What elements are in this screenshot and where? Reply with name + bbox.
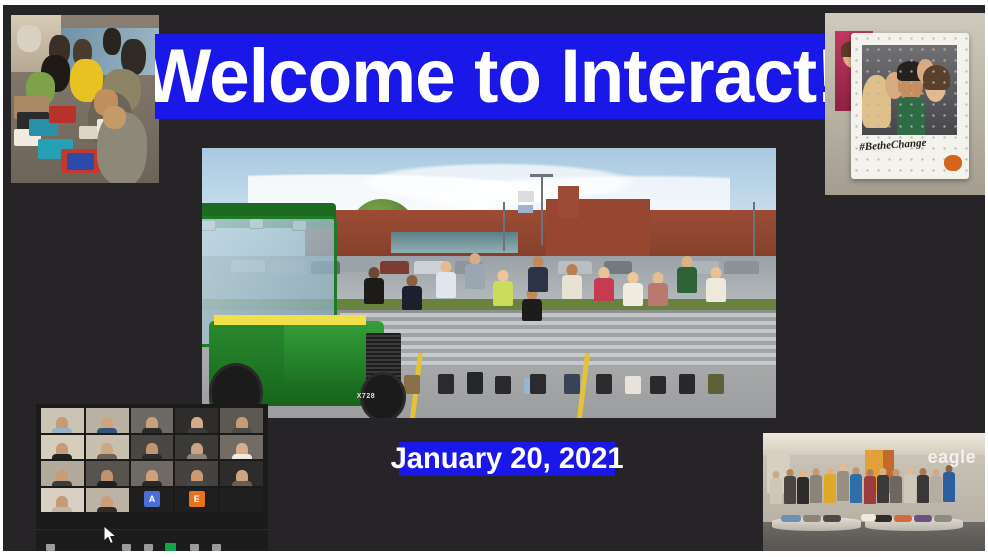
photo-be-the-change-polaroid: #BetheChange xyxy=(825,13,985,195)
page-title: Welcome to Interact! xyxy=(155,38,827,116)
zoom-participant-tile[interactable] xyxy=(220,435,263,460)
presentation-stage: Welcome to Interact! xyxy=(3,5,985,551)
polaroid-frame-prop: #BetheChange xyxy=(851,33,969,179)
participant-video-body xyxy=(187,481,207,486)
participants-icon xyxy=(122,544,131,551)
participant-avatar-initial: E xyxy=(189,491,205,507)
participant-video-body xyxy=(187,454,207,459)
participant-video-body xyxy=(232,481,252,486)
zoom-participant-tile[interactable] xyxy=(86,435,129,460)
zoom-tool-reactions[interactable] xyxy=(208,544,224,551)
zoom-participant-tile[interactable] xyxy=(41,488,84,513)
zoom-participant-tile[interactable] xyxy=(175,408,218,433)
zoom-participant-tile[interactable] xyxy=(220,488,263,513)
screenshot-root: Welcome to Interact! xyxy=(0,0,988,557)
tractor-model-label: X728 xyxy=(357,393,375,400)
zoom-gallery-grid: AE xyxy=(41,408,263,512)
reactions-icon xyxy=(212,544,221,551)
pumpkin-sticker-icon xyxy=(944,155,962,171)
share-screen-icon xyxy=(165,543,176,551)
wall-logo-text: eagle xyxy=(928,447,977,468)
photo-supply-packing-service-project xyxy=(11,15,159,183)
photo-donation-drive-group: eagle xyxy=(763,433,985,551)
video-camera-icon xyxy=(46,544,55,551)
zoom-tool-share-screen[interactable] xyxy=(162,543,178,551)
participant-video-body xyxy=(142,481,162,486)
participant-video-body xyxy=(232,454,252,459)
zoom-participant-tile[interactable] xyxy=(41,435,84,460)
john-deere-tractor: X728 xyxy=(202,216,414,419)
zoom-tool-participants[interactable] xyxy=(118,544,134,551)
participant-video-body xyxy=(52,507,72,512)
polaroid-caption: #BetheChange xyxy=(859,134,961,176)
slide-date-banner: January 20, 2021 xyxy=(399,442,615,476)
zoom-participant-tile[interactable] xyxy=(41,461,84,486)
participant-video-body xyxy=(187,428,207,433)
zoom-participant-tile[interactable]: A xyxy=(131,488,174,513)
participant-video-body xyxy=(97,507,117,512)
zoom-participant-tile[interactable] xyxy=(131,408,174,433)
participant-video-body xyxy=(232,428,252,433)
participant-video-body xyxy=(97,481,117,486)
zoom-participant-tile[interactable] xyxy=(220,408,263,433)
slide-title-banner: Welcome to Interact! xyxy=(155,34,827,119)
record-icon xyxy=(190,544,199,551)
zoom-participant-tile[interactable] xyxy=(131,461,174,486)
zoom-tool-stop-video[interactable] xyxy=(42,544,58,551)
photo-interact-club-group: X728 xyxy=(202,148,776,418)
participant-video-body xyxy=(97,428,117,433)
chat-bubble-icon xyxy=(144,544,153,551)
participant-avatar-initial: A xyxy=(144,491,160,507)
participant-video-body xyxy=(52,454,72,459)
zoom-participant-tile[interactable] xyxy=(86,488,129,513)
zoom-participant-tile[interactable] xyxy=(175,461,218,486)
zoom-participant-tile[interactable] xyxy=(86,408,129,433)
participant-video-body xyxy=(52,481,72,486)
zoom-tool-chat[interactable] xyxy=(140,544,156,551)
participant-video-body xyxy=(52,428,72,433)
zoom-toolbar[interactable] xyxy=(36,529,268,551)
zoom-participant-tile[interactable] xyxy=(220,461,263,486)
zoom-participant-tile[interactable] xyxy=(86,461,129,486)
slide-date: January 20, 2021 xyxy=(391,444,624,474)
zoom-participant-tile[interactable]: E xyxy=(175,488,218,513)
participant-video-body xyxy=(142,428,162,433)
zoom-tool-record[interactable] xyxy=(186,544,202,551)
zoom-meeting-window[interactable]: AE xyxy=(36,404,268,551)
participant-video-body xyxy=(97,454,117,459)
participant-video-body xyxy=(142,454,162,459)
zoom-participant-tile[interactable] xyxy=(131,435,174,460)
zoom-participant-tile[interactable] xyxy=(41,408,84,433)
zoom-participant-tile[interactable] xyxy=(175,435,218,460)
